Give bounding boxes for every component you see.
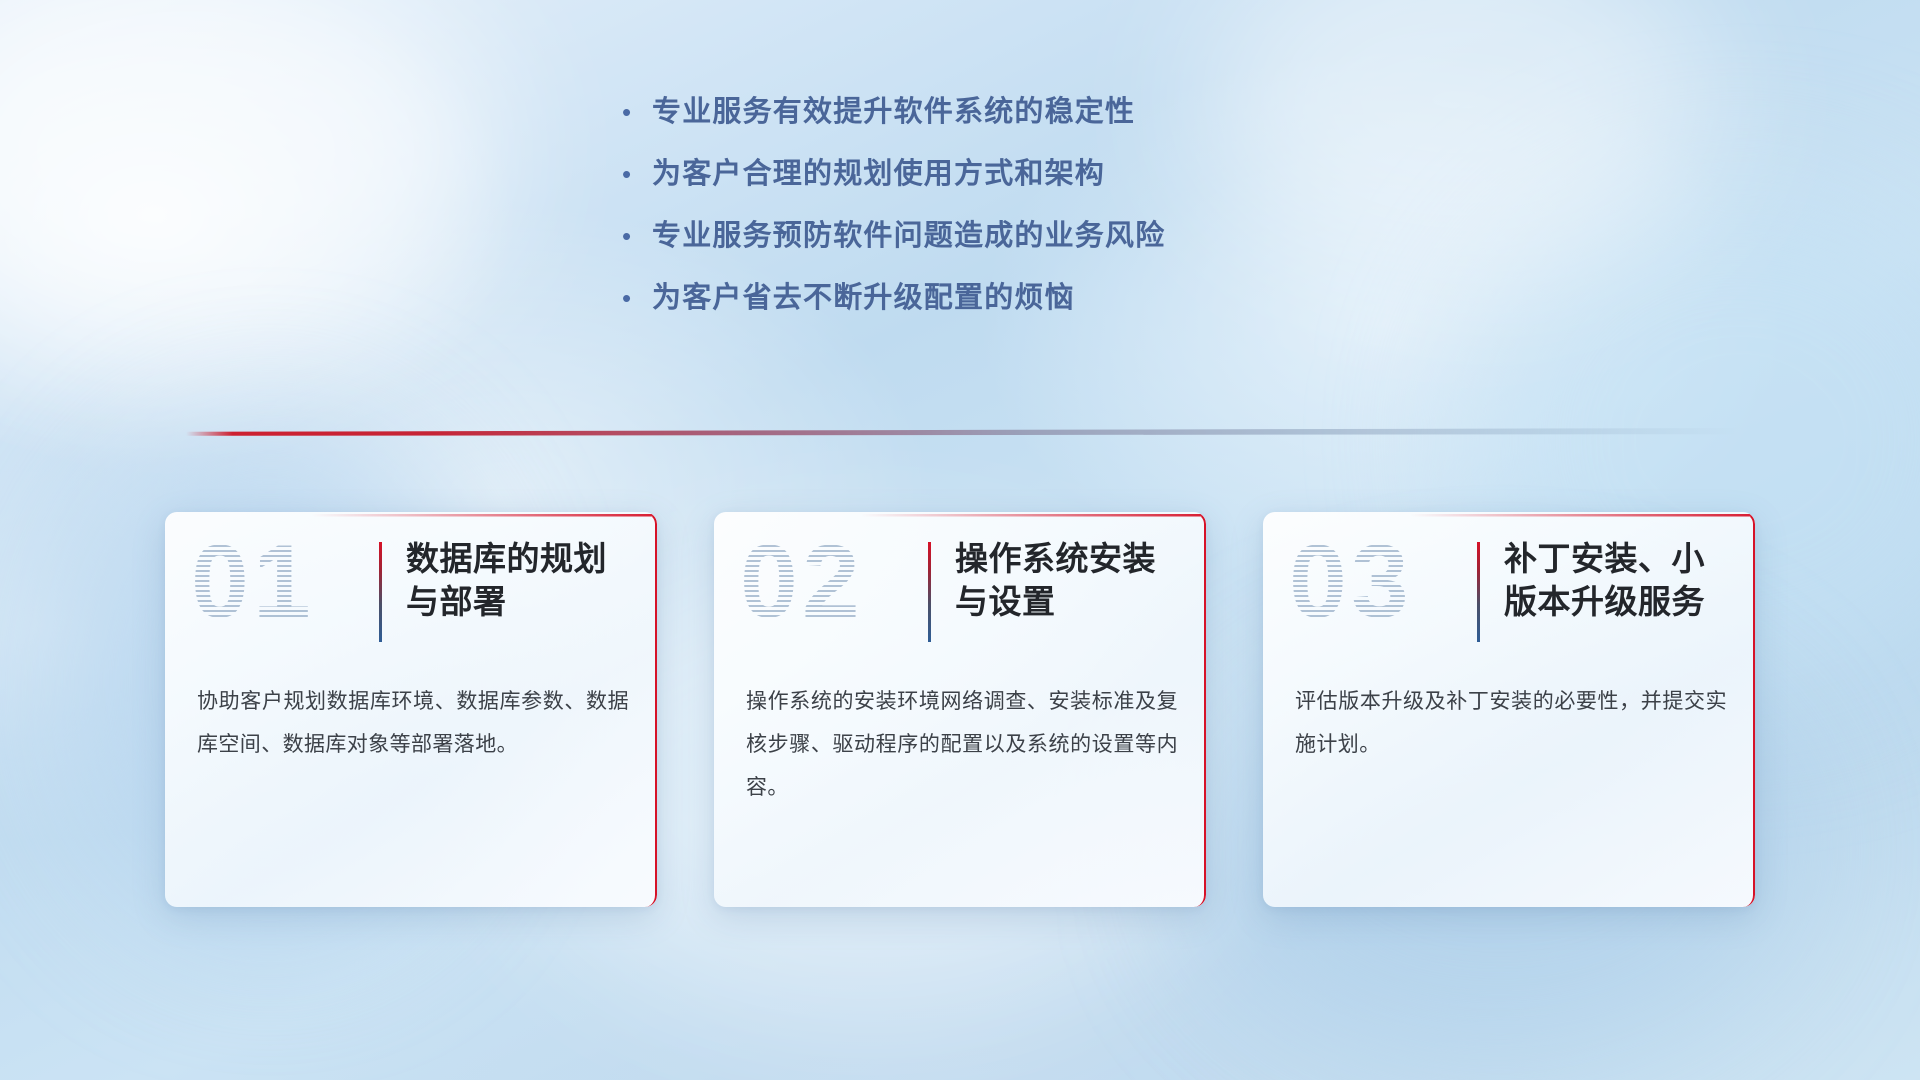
- card-title: 补丁安装、小版本升级服务: [1504, 538, 1733, 624]
- list-item: • 专业服务有效提升软件系统的稳定性: [610, 88, 1310, 150]
- list-item: • 为客户省去不断升级配置的烦恼: [610, 274, 1310, 336]
- bullet-marker-icon: •: [622, 223, 652, 249]
- card-title-group: 操作系统安装与设置: [928, 538, 1184, 642]
- card-title: 数据库的规划与部署: [406, 538, 635, 624]
- list-item: • 为客户合理的规划使用方式和架构: [610, 150, 1310, 212]
- section-divider: [186, 428, 1738, 438]
- title-accent-bar: [1477, 542, 1480, 642]
- bullet-marker-icon: •: [622, 285, 652, 311]
- card-header: 01 数据库的规划与部署: [165, 512, 657, 662]
- service-card-01[interactable]: 01 数据库的规划与部署 协助客户规划数据库环境、数据库参数、数据库空间、数据库…: [165, 512, 657, 907]
- bullet-list: • 专业服务有效提升软件系统的稳定性 • 为客户合理的规划使用方式和架构 • 专…: [0, 88, 1920, 336]
- card-row: 01 数据库的规划与部署 协助客户规划数据库环境、数据库参数、数据库空间、数据库…: [0, 512, 1920, 907]
- bullet-text: 专业服务有效提升软件系统的稳定性: [652, 88, 1135, 130]
- card-title: 操作系统安装与设置: [955, 538, 1184, 624]
- title-accent-bar: [379, 542, 382, 642]
- service-card-03[interactable]: 03 补丁安装、小版本升级服务 评估版本升级及补丁安装的必要性，并提交实施计划。: [1263, 512, 1755, 907]
- card-number-watermark: 02: [740, 530, 864, 634]
- bullet-text: 专业服务预防软件问题造成的业务风险: [652, 212, 1165, 254]
- card-body-text: 操作系统的安装环境网络调查、安装标准及复核步骤、驱动程序的配置以及系统的设置等内…: [746, 680, 1178, 809]
- card-header: 03 补丁安装、小版本升级服务: [1263, 512, 1755, 662]
- card-number-watermark: 01: [191, 530, 315, 634]
- bullet-text: 为客户省去不断升级配置的烦恼: [652, 274, 1075, 316]
- divider-line: [186, 428, 1738, 438]
- card-title-group: 数据库的规划与部署: [379, 538, 635, 642]
- service-card-02[interactable]: 02 操作系统安装与设置 操作系统的安装环境网络调查、安装标准及复核步骤、驱动程…: [714, 512, 1206, 907]
- bullet-marker-icon: •: [622, 161, 652, 187]
- bullet-marker-icon: •: [622, 99, 652, 125]
- title-accent-bar: [928, 542, 931, 642]
- card-number-watermark: 03: [1289, 530, 1413, 634]
- card-title-group: 补丁安装、小版本升级服务: [1477, 538, 1733, 642]
- slide-canvas: • 专业服务有效提升软件系统的稳定性 • 为客户合理的规划使用方式和架构 • 专…: [0, 0, 1920, 1080]
- card-header: 02 操作系统安装与设置: [714, 512, 1206, 662]
- list-item: • 专业服务预防软件问题造成的业务风险: [610, 212, 1310, 274]
- card-body-text: 协助客户规划数据库环境、数据库参数、数据库空间、数据库对象等部署落地。: [197, 680, 629, 766]
- card-body-text: 评估版本升级及补丁安装的必要性，并提交实施计划。: [1295, 680, 1727, 766]
- bullet-text: 为客户合理的规划使用方式和架构: [652, 150, 1105, 192]
